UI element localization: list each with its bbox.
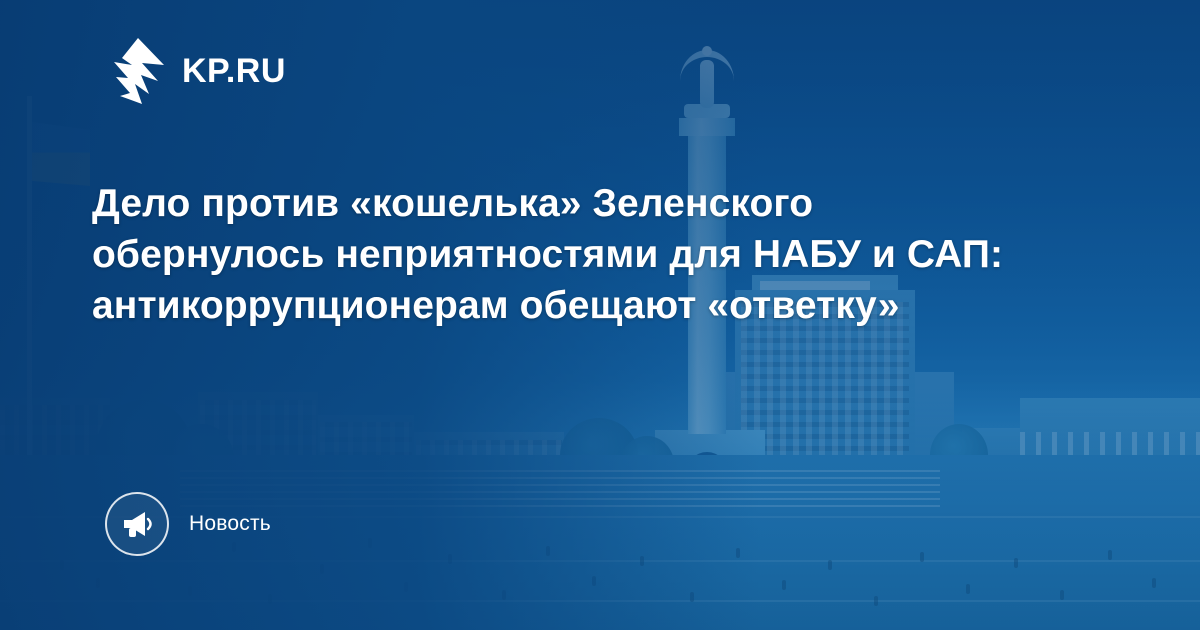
card-content: KP.RU Дело против «кошелька» Зеленского … [0, 0, 1200, 630]
headline: Дело против «кошелька» Зеленского оберну… [92, 178, 1052, 331]
content-type-text: Новость [189, 512, 271, 536]
megaphone-icon [105, 492, 169, 556]
brand-lockup[interactable]: KP.RU [108, 38, 286, 104]
brand-name: KP.RU [182, 54, 286, 88]
social-share-card: KP.RU Дело против «кошелька» Зеленского … [0, 0, 1200, 630]
kp-bird-logo-icon [108, 38, 164, 104]
content-type-label[interactable]: Новость [105, 492, 271, 556]
